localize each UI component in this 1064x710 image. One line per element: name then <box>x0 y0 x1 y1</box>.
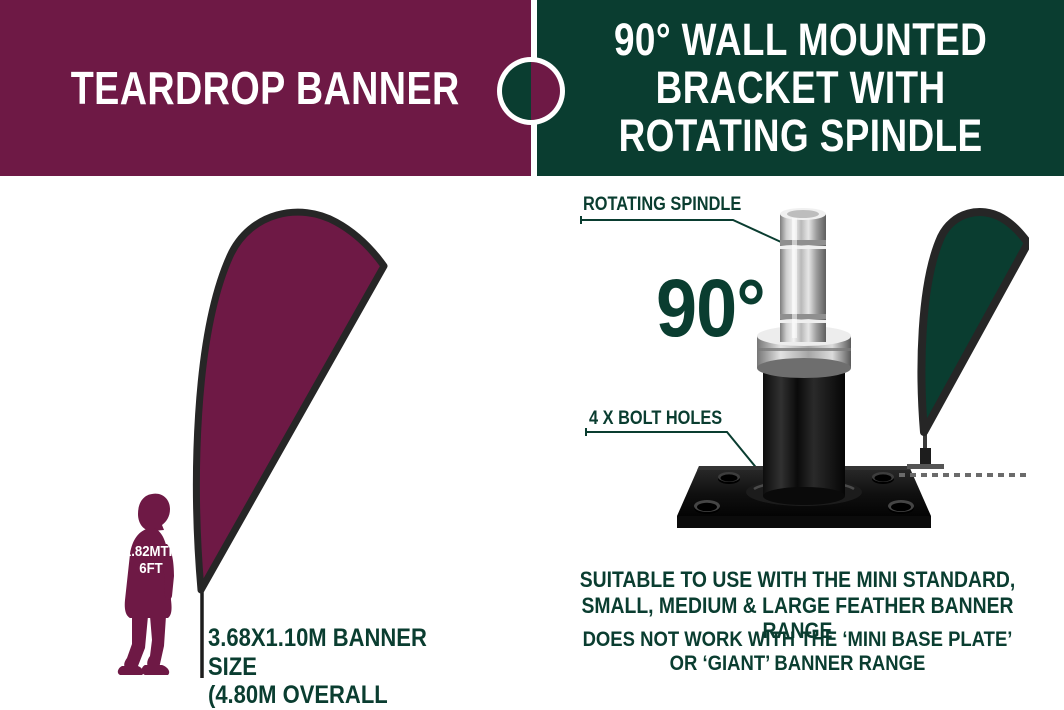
compatibility-note-2: DOES NOT WORK WITH THE ‘MINI BASE PLATE’… <box>563 628 1032 677</box>
split-circle-left-half <box>502 62 531 120</box>
teardrop-banner-green-icon <box>899 196 1029 486</box>
product-infographic: TEARDROP BANNER 90° WALL MOUNTED BRACKET… <box>0 0 1064 710</box>
banner-size-label: 3.68X1.10M BANNER SIZE (4.80M OVERALL HE… <box>208 624 472 710</box>
right-content-area: ROTATING SPINDLE 4 X BOLT HOLES 90° <box>531 176 1064 710</box>
person-silhouette-icon <box>112 488 192 678</box>
header-right-title: 90° WALL MOUNTED BRACKET WITH ROTATING S… <box>609 16 992 159</box>
left-content-area: 1.82MTR 6FT 3.68X1.10M BANNER SIZE (4.80… <box>0 176 531 710</box>
header-bar: TEARDROP BANNER 90° WALL MOUNTED BRACKET… <box>0 0 1064 176</box>
split-circle-right-half <box>531 62 560 120</box>
split-circle-icon <box>497 57 565 125</box>
header-right-panel: 90° WALL MOUNTED BRACKET WITH ROTATING S… <box>537 0 1064 176</box>
header-left-title: TEARDROP BANNER <box>71 65 460 111</box>
header-left-panel: TEARDROP BANNER <box>0 0 531 176</box>
